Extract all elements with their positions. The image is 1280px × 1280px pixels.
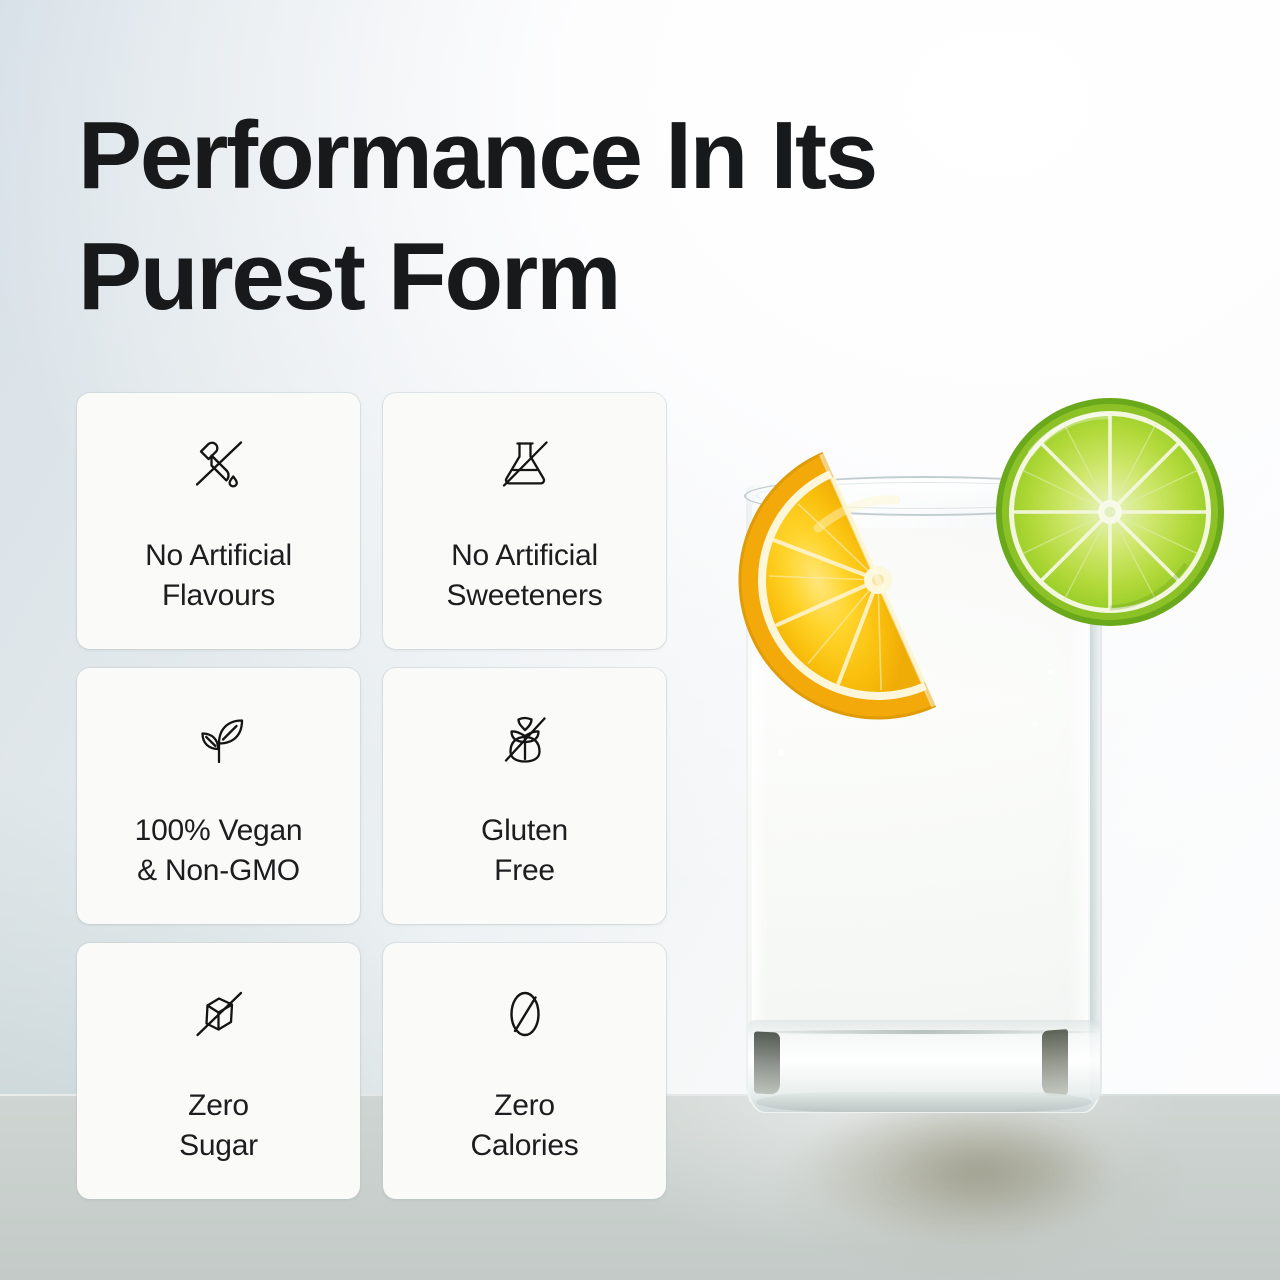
bubble xyxy=(1048,670,1052,674)
benefit-card-no-artificial-flavours[interactable]: No Artificial Flavours xyxy=(77,393,360,649)
glass-base-refraction-left xyxy=(754,1031,780,1094)
slashed-zero-icon xyxy=(493,982,557,1046)
benefit-card-label: No Artificial Sweeteners xyxy=(447,536,603,616)
no-dropper-icon xyxy=(187,432,251,496)
poster-stage: Performance In Its Purest Form No Artifi… xyxy=(0,0,1280,1280)
benefit-card-zero-sugar[interactable]: Zero Sugar xyxy=(77,943,360,1199)
glass-bottom-edge xyxy=(756,1092,1092,1112)
page-title: Performance In Its Purest Form xyxy=(78,96,1198,338)
glass-shadow-core xyxy=(840,1116,1140,1236)
benefit-card-grid: No Artificial Flavours No Artificial Swe… xyxy=(77,393,669,1199)
benefit-card-label: Zero Calories xyxy=(470,1086,578,1166)
no-sugar-cube-icon xyxy=(187,982,251,1046)
benefit-card-no-artificial-sweeteners[interactable]: No Artificial Sweeteners xyxy=(383,393,666,649)
glass-base-refraction-right xyxy=(1042,1029,1068,1097)
benefit-card-label: Gluten Free xyxy=(481,811,568,891)
benefit-card-vegan-non-gmo[interactable]: 100% Vegan & Non-GMO xyxy=(77,668,360,924)
product-photo xyxy=(690,330,1280,1280)
lemon-wedge-garnish xyxy=(718,420,1038,740)
benefit-card-label: No Artificial Flavours xyxy=(145,536,292,616)
plant-sprout-icon xyxy=(187,707,251,771)
benefit-card-label: Zero Sugar xyxy=(179,1086,258,1166)
bubble xyxy=(778,750,784,756)
benefit-card-gluten-free[interactable]: Gluten Free xyxy=(383,668,666,924)
no-wheat-icon xyxy=(493,707,557,771)
benefit-card-zero-calories[interactable]: Zero Calories xyxy=(383,943,666,1199)
no-flask-icon xyxy=(493,432,557,496)
benefit-card-label: 100% Vegan & Non-GMO xyxy=(135,811,303,891)
